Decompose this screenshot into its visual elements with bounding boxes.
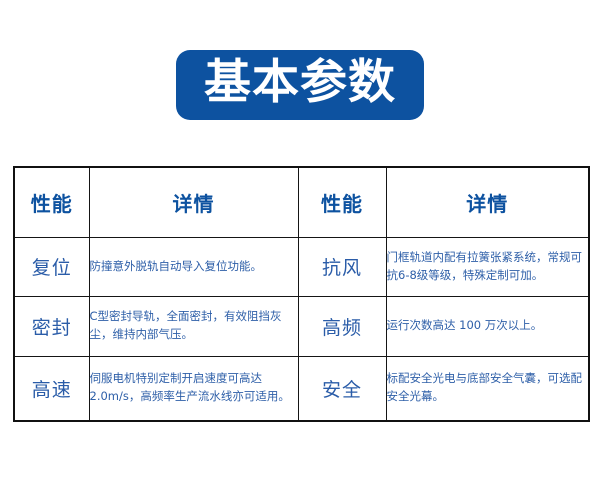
column-header-detail-left: 详情 [89, 167, 298, 237]
spec-detail-windproof: 门框轨道内配有拉簧张紧系统，常规可抗6-8级等级，特殊定制可加。 [386, 237, 589, 296]
column-header-performance-right: 性能 [298, 167, 386, 237]
page-title: 基本参数 [204, 59, 396, 107]
spec-name-high-frequency: 高频 [298, 296, 386, 356]
table-row: 复位 防撞意外脱轨自动导入复位功能。 抗风 门框轨道内配有拉簧张紧系统，常规可抗… [14, 237, 589, 296]
spec-detail-text: 标配安全光电与底部安全气囊，可选配安全光幕。 [387, 370, 589, 406]
spec-detail-text: 伺服电机特别定制开启速度可高达2.0m/s，高频率生产流水线亦可适用。 [90, 370, 298, 406]
spec-name-reset: 复位 [14, 237, 89, 296]
spec-detail-text: C型密封导轨，全面密封，有效阻挡灰尘，维持内部气压。 [90, 308, 298, 344]
column-header-performance-left: 性能 [14, 167, 89, 237]
spec-name-safety: 安全 [298, 356, 386, 421]
spec-detail-safety: 标配安全光电与底部安全气囊，可选配安全光幕。 [386, 356, 589, 421]
spec-detail-high-speed: 伺服电机特别定制开启速度可高达2.0m/s，高频率生产流水线亦可适用。 [89, 356, 298, 421]
table-row: 高速 伺服电机特别定制开启速度可高达2.0m/s，高频率生产流水线亦可适用。 安… [14, 356, 589, 421]
table-row: 密封 C型密封导轨，全面密封，有效阻挡灰尘，维持内部气压。 高频 运行次数高达 … [14, 296, 589, 356]
specifications-table: 性能 详情 性能 详情 复位 防撞意外脱轨自动导入复位功能。 抗风 门框轨道内配… [13, 166, 590, 422]
spec-name-high-speed: 高速 [14, 356, 89, 421]
title-banner-container: 基本参数 [0, 0, 600, 160]
title-banner: 基本参数 [176, 50, 424, 120]
spec-detail-text: 门框轨道内配有拉簧张紧系统，常规可抗6-8级等级，特殊定制可加。 [387, 249, 589, 285]
spec-name-sealing: 密封 [14, 296, 89, 356]
spec-detail-reset: 防撞意外脱轨自动导入复位功能。 [89, 237, 298, 296]
spec-name-windproof: 抗风 [298, 237, 386, 296]
column-header-detail-right: 详情 [386, 167, 589, 237]
spec-detail-sealing: C型密封导轨，全面密封，有效阻挡灰尘，维持内部气压。 [89, 296, 298, 356]
spec-detail-high-frequency: 运行次数高达 100 万次以上。 [386, 296, 589, 356]
spec-detail-text: 防撞意外脱轨自动导入复位功能。 [90, 258, 298, 276]
spec-detail-text: 运行次数高达 100 万次以上。 [387, 317, 589, 335]
table-header-row: 性能 详情 性能 详情 [14, 167, 589, 237]
